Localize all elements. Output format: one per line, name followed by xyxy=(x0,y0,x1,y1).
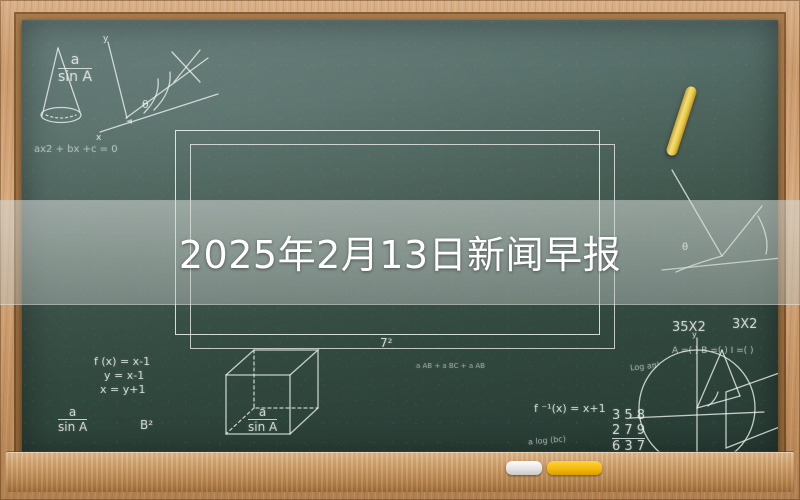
white-chalk-icon xyxy=(506,461,542,475)
chalk-ledge xyxy=(6,452,794,492)
yellow-chalk-ledge-icon xyxy=(547,461,602,475)
chalkboard-banner: a sin A y x θ ax2 + bx +c = 0 θ 35X2 3X2… xyxy=(0,0,800,500)
page-title: 2025年2月13日新闻早报 xyxy=(0,200,800,303)
